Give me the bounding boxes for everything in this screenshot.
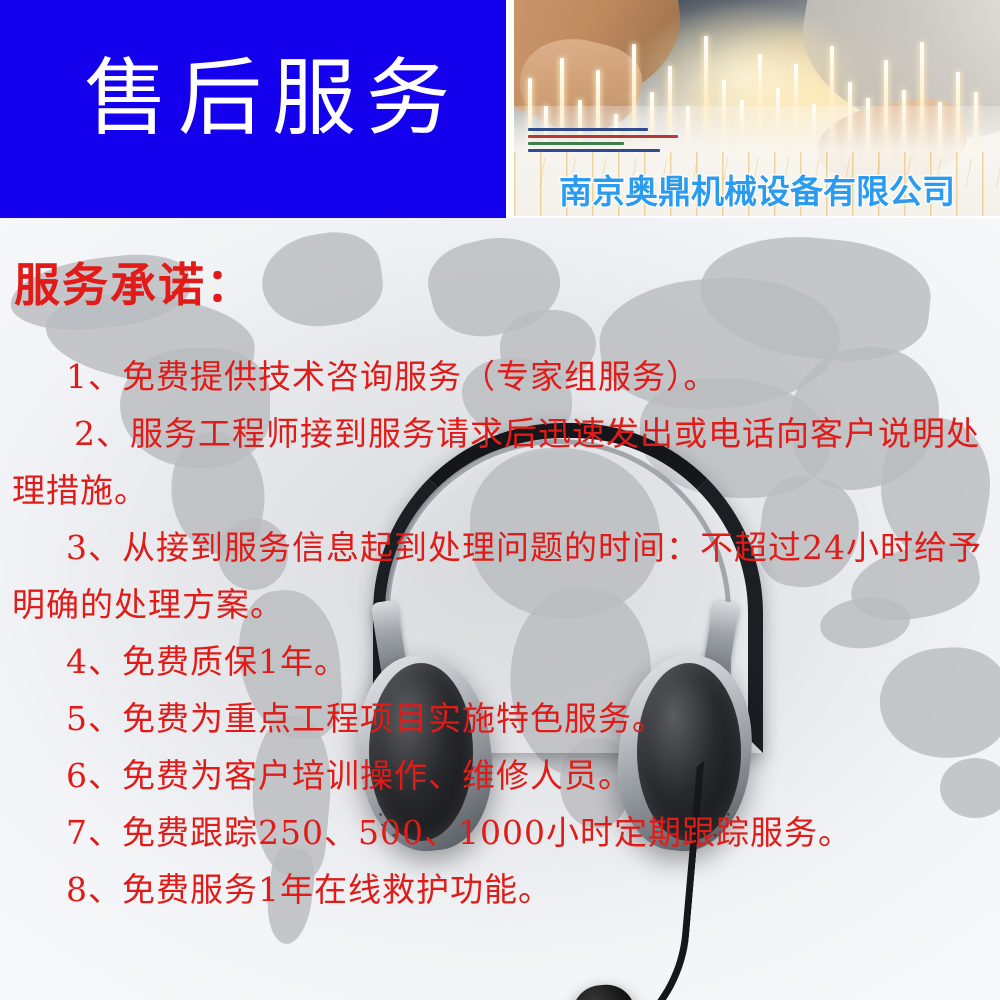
company-name: 南京奥鼎机械设备有限公司 <box>522 172 992 212</box>
text-content: 服务承诺： 1、免费提供技术咨询服务（专家组服务）。 2、服务工程师接到服务请求… <box>0 218 1000 1000</box>
title-banner: 售后服务 <box>0 0 506 218</box>
promise-item-3: 3、从接到服务信息起到处理问题的时间：不超过24小时给予 <box>0 519 1000 576</box>
promise-item-1: 1、免费提供技术咨询服务（专家组服务）。 <box>0 348 1000 405</box>
header-photo: 南京奥鼎机械设备有限公司 <box>514 0 1000 216</box>
promise-item-2: 2、服务工程师接到服务请求后迅速发出或电话向客户说明处 <box>0 405 1000 462</box>
promise-list: 1、免费提供技术咨询服务（专家组服务）。 2、服务工程师接到服务请求后迅速发出或… <box>0 348 1000 918</box>
promise-item-7: 7、免费跟踪250、500、1000小时定期跟踪服务。 <box>0 804 1000 861</box>
promise-item-6: 6、免费为客户培训操作、维修人员。 <box>0 747 1000 804</box>
page-title: 售后服务 <box>84 48 460 148</box>
promise-item-8: 8、免费服务1年在线救护功能。 <box>0 861 1000 918</box>
section-title: 服务承诺： <box>14 258 254 312</box>
promise-item-5: 5、免费为重点工程项目实施特色服务。 <box>0 690 1000 747</box>
promise-item-3-cont: 明确的处理方案。 <box>0 576 1000 633</box>
content-area: 服务承诺： 1、免费提供技术咨询服务（专家组服务）。 2、服务工程师接到服务请求… <box>0 218 1000 1000</box>
promise-item-4: 4、免费质保1年。 <box>0 633 1000 690</box>
poster-root: 售后服务 <box>0 0 1000 1000</box>
promise-item-2-cont: 理措施。 <box>0 462 1000 519</box>
header-band: 售后服务 <box>0 0 1000 220</box>
